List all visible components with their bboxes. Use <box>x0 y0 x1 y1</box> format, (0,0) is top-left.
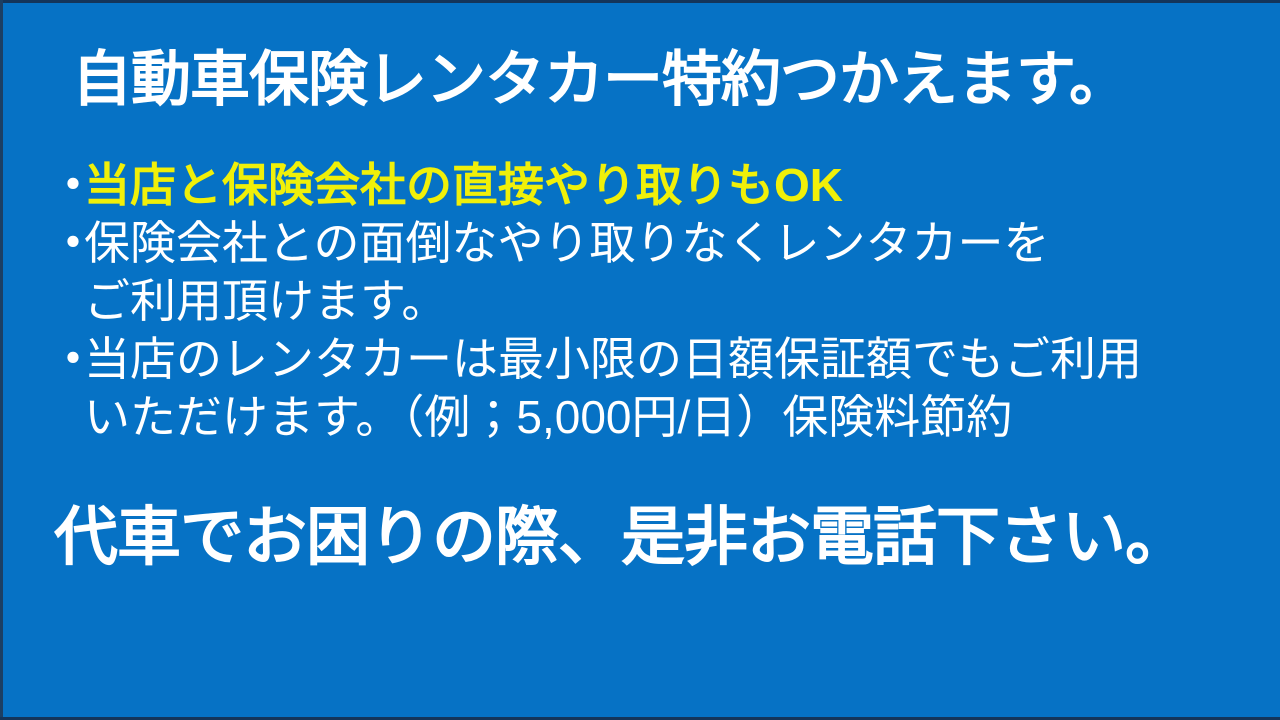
closing-call-to-action: 代車でお困りの際、是非お電話下さい。 <box>54 505 1188 569</box>
bullet-text-1-line-1: 当店と保険会社の直接やり取りもOK <box>84 156 843 214</box>
bullet-item-2: ・ 保険会社との面倒なやり取りなくレンタカーを ご利用頂けます。 <box>50 214 1270 330</box>
bullet-text-2: 保険会社との面倒なやり取りなくレンタカーを ご利用頂けます。 <box>84 214 1050 330</box>
bullet-text-1: 当店と保険会社の直接やり取りもOK <box>84 156 843 214</box>
slide-headline: 自動車保険レンタカー特約つかえます。 <box>72 50 1128 110</box>
bullet-text-3-line-2: いただけます。（例；5,000円/日）保険料節約 <box>84 388 1142 446</box>
bullet-item-3: ・ 当店のレンタカーは最小限の日額保証額でもご利用 いただけます。（例；5,00… <box>50 330 1270 446</box>
slide-left-edge <box>0 0 3 720</box>
bullet-marker-icon: ・ <box>50 330 84 388</box>
bullet-text-2-line-1: 保険会社との面倒なやり取りなくレンタカーを <box>84 214 1050 272</box>
bullet-text-3-line-1: 当店のレンタカーは最小限の日額保証額でもご利用 <box>84 330 1142 388</box>
bullet-item-1: ・ 当店と保険会社の直接やり取りもOK <box>50 156 1270 214</box>
bullet-marker-icon: ・ <box>50 156 84 214</box>
bullet-list: ・ 当店と保険会社の直接やり取りもOK ・ 保険会社との面倒なやり取りなくレンタ… <box>50 156 1270 446</box>
bullet-marker-icon: ・ <box>50 214 84 272</box>
slide-top-edge <box>0 0 1280 3</box>
slide-canvas: 自動車保険レンタカー特約つかえます。 ・ 当店と保険会社の直接やり取りもOK ・… <box>0 0 1280 720</box>
bullet-text-2-line-2: ご利用頂けます。 <box>84 272 1050 330</box>
bullet-text-3: 当店のレンタカーは最小限の日額保証額でもご利用 いただけます。（例；5,000円… <box>84 330 1142 446</box>
